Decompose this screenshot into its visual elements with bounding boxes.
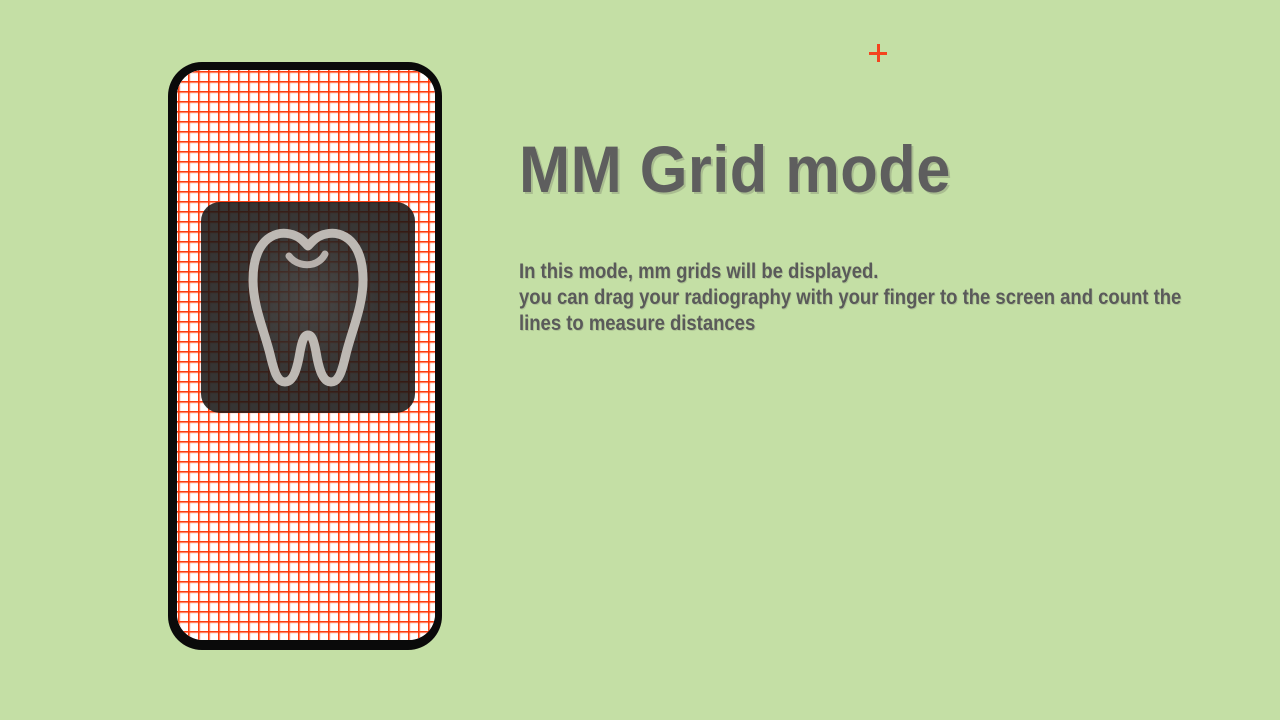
phone-screen[interactable]	[177, 70, 435, 640]
page-title: MM Grid mode	[519, 136, 1198, 202]
crosshair-marker-icon	[869, 44, 887, 62]
dental-radiograph-panel[interactable]	[201, 202, 415, 413]
description-line-3: lines to measure distances	[519, 311, 1248, 337]
phone-mockup	[168, 62, 442, 650]
text-column: MM Grid mode In this mode, mm grids will…	[519, 136, 1249, 337]
slide-canvas: MM Grid mode In this mode, mm grids will…	[0, 0, 1280, 720]
tooth-icon	[201, 202, 415, 413]
description-line-2: you can drag your radiography with your …	[519, 285, 1248, 311]
description-text: In this mode, mm grids will be displayed…	[519, 202, 1248, 337]
description-line-1: In this mode, mm grids will be displayed…	[519, 259, 1248, 285]
